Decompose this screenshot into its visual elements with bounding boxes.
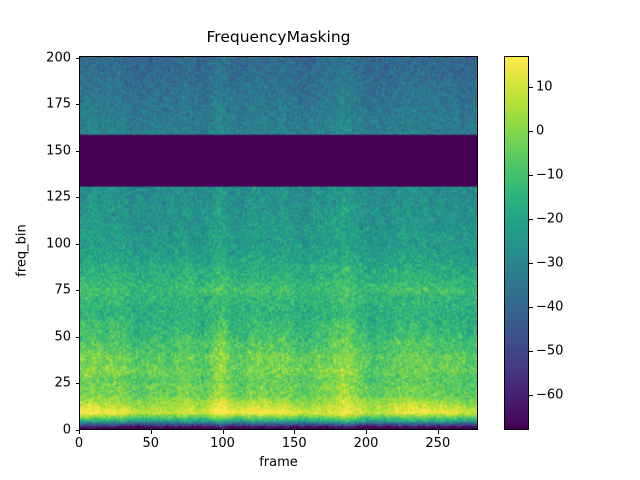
x-tick-label: 250 [425, 436, 450, 451]
y-tick-mark [76, 337, 80, 338]
y-tick-mark [76, 244, 80, 245]
x-tick-label: 100 [210, 436, 235, 451]
y-tick-label: 150 [33, 143, 71, 158]
y-tick-label: 200 [33, 50, 71, 65]
x-tick-mark [79, 430, 80, 434]
y-tick-mark [76, 197, 80, 198]
y-tick-mark [76, 383, 80, 384]
colorbar-tick-mark [529, 87, 533, 88]
colorbar-tick-label: −30 [536, 255, 563, 270]
y-tick-mark [76, 151, 80, 152]
colorbar-tick-mark [529, 351, 533, 352]
y-tick-mark [76, 290, 80, 291]
colorbar-tick-mark [529, 219, 533, 220]
colorbar-tick-label: 0 [536, 123, 544, 138]
matplotlib-figure: FrequencyMasking 0255075100125150175200 … [0, 0, 640, 480]
x-tick-mark [438, 430, 439, 434]
x-axis-label: frame [79, 455, 478, 470]
colorbar-tick-mark [529, 131, 533, 132]
x-tick-label: 50 [142, 436, 159, 451]
y-axis-label: freq_bin [15, 191, 30, 311]
colorbar-tick-label: −60 [536, 387, 563, 402]
spectrogram-heatmap [80, 57, 477, 429]
x-tick-mark [366, 430, 367, 434]
colorbar-tick-mark [529, 263, 533, 264]
spectrogram-axes[interactable] [79, 56, 478, 430]
spectrogram-canvas [80, 57, 477, 429]
y-tick-label: 50 [33, 329, 71, 344]
y-tick-label: 75 [33, 283, 71, 298]
y-tick-mark [76, 58, 80, 59]
page-title: FrequencyMasking [79, 27, 478, 47]
colorbar-tick-label: −20 [536, 211, 563, 226]
colorbar-tick-mark [529, 307, 533, 308]
x-tick-mark [151, 430, 152, 434]
colorbar-tick-label: 10 [536, 79, 553, 94]
x-tick-mark [223, 430, 224, 434]
y-tick-label: 125 [33, 190, 71, 205]
colorbar-tick-mark [529, 175, 533, 176]
colorbar-tick-label: −10 [536, 167, 563, 182]
y-tick-label: 175 [33, 97, 71, 112]
y-tick-mark [76, 104, 80, 105]
x-tick-label: 0 [75, 436, 83, 451]
colorbar-tick-mark [529, 395, 533, 396]
colorbar-tick-label: −50 [536, 343, 563, 358]
x-tick-mark [294, 430, 295, 434]
colorbar-gradient [505, 57, 528, 429]
x-tick-label: 150 [282, 436, 307, 451]
colorbar-tick-label: −40 [536, 299, 563, 314]
y-tick-label: 25 [33, 376, 71, 391]
y-tick-label: 0 [33, 423, 71, 438]
colorbar[interactable] [504, 56, 529, 430]
x-tick-label: 200 [354, 436, 379, 451]
y-tick-label: 100 [33, 236, 71, 251]
